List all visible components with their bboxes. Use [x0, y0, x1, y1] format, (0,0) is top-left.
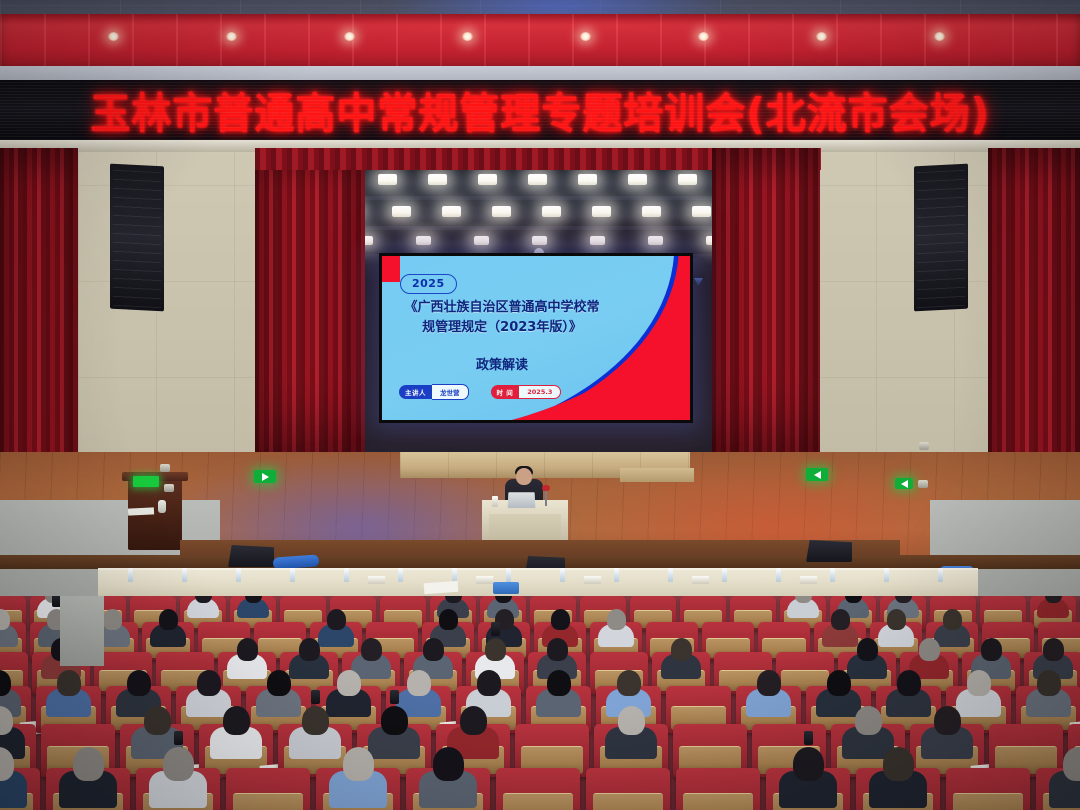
attendee-head — [981, 638, 1002, 661]
presenter-head — [516, 468, 532, 485]
auditorium-seat — [226, 768, 310, 810]
downlight-icon — [226, 32, 237, 41]
slide-footer: 主讲人 龙世营 时 间 2025.3 — [399, 384, 561, 400]
auditorium-seat — [676, 768, 760, 810]
stage-lamp-icon — [648, 236, 663, 245]
attendee-head — [919, 638, 940, 661]
slide-title-line-2: 规管理规定（2023年版）》 — [392, 318, 612, 338]
curtain-right — [712, 148, 820, 473]
attendee-head — [163, 747, 194, 780]
attendee-head — [477, 670, 501, 696]
downlight-icon — [108, 32, 119, 41]
water-bottle-icon — [236, 568, 241, 582]
name-card — [800, 576, 817, 584]
stage-lamp-icon — [416, 236, 431, 245]
attendee-head — [943, 609, 962, 630]
desk-microphone-icon — [545, 489, 547, 506]
banner-title: 玉林市普通高中常规管理专题培训会(北流市会场) — [90, 80, 990, 140]
floor-monitor-left — [228, 545, 274, 567]
seat-back-pad — [683, 793, 754, 810]
stage-lamp-icon — [628, 174, 647, 185]
stage-lamp-icon — [642, 206, 661, 217]
attendee-head — [857, 638, 878, 661]
name-card — [476, 576, 493, 584]
wall-lamp-icon-right — [919, 442, 929, 450]
attendee-head — [223, 706, 250, 735]
slide-time-value: 2025.3 — [519, 385, 561, 399]
slide-presenter-name: 龙世营 — [432, 384, 469, 400]
attendee-head — [423, 638, 444, 661]
attendee-head — [934, 706, 961, 735]
attendee-head — [302, 706, 329, 735]
water-bottle-icon — [668, 568, 673, 582]
slide-presenter-pill: 主讲人 龙世营 — [399, 384, 469, 400]
attendee-head — [299, 638, 320, 661]
attendee-head — [793, 747, 824, 780]
downlight-icon — [934, 32, 945, 41]
water-bottle-icon — [722, 568, 727, 582]
attendee-head — [57, 670, 81, 696]
stage-lamp-icon — [492, 206, 511, 217]
front-table-blue-box — [493, 582, 519, 594]
attendee-head — [671, 638, 692, 661]
slide-time-label: 时 间 — [491, 385, 520, 399]
exit-sign-icon-right-wall — [806, 468, 828, 481]
attendee-head — [897, 670, 921, 696]
podium-vase — [158, 500, 166, 513]
attendee-phone-icon — [491, 622, 500, 636]
attendee-head — [127, 670, 151, 696]
attendee-head — [1037, 670, 1061, 696]
par-light-fixture-icon — [692, 258, 705, 280]
attendee-head — [618, 706, 645, 735]
curtain-left — [255, 148, 365, 473]
stage-lamp-icon — [578, 174, 597, 185]
line-array-speaker-left — [110, 164, 164, 312]
attendee-head — [617, 670, 641, 696]
water-bottle-icon — [128, 568, 133, 582]
downlight-icon — [816, 32, 827, 41]
attendee-head — [407, 670, 431, 696]
attendee-head — [855, 706, 882, 735]
stage-lamp-icon — [692, 206, 711, 217]
attendee-head — [267, 670, 291, 696]
slide-year-badge: 2025 — [400, 274, 457, 294]
stage-lamp-icon — [478, 174, 497, 185]
seat-back-pad — [233, 793, 304, 810]
slide-time-pill: 时 间 2025.3 — [491, 385, 562, 399]
auditorium-seat — [586, 768, 670, 810]
stage-lamp-icon — [590, 236, 605, 245]
attendee-head — [381, 706, 408, 735]
attendee-head — [343, 747, 374, 780]
stage-lamp-icon — [678, 174, 697, 185]
attendee-head — [103, 609, 122, 630]
water-bottle-icon — [398, 568, 403, 582]
slide-subtitle: 政策解读 — [392, 354, 612, 373]
attendee-head — [887, 609, 906, 630]
aisle-floor — [60, 596, 104, 666]
attendee-head — [547, 638, 568, 661]
laptop-icon — [508, 492, 536, 508]
led-banner: 玉林市普通高中常规管理专题培训会(北流市会场) — [0, 80, 1080, 140]
attendee-head — [1063, 747, 1080, 780]
attendee-head — [551, 609, 570, 630]
attendee-head — [159, 609, 178, 630]
floor-monitor-right — [806, 540, 852, 562]
attendee-head — [144, 706, 171, 735]
downlight-icon — [344, 32, 355, 41]
stage-lamp-icon — [542, 206, 561, 217]
slide-top-red-corner — [382, 256, 400, 282]
water-bottle-icon — [506, 568, 511, 582]
front-table-paper — [424, 581, 459, 594]
stage-lamp-icon — [392, 206, 411, 217]
led-display-screen: 2025 《广西壮族自治区普通高中学校常 规管理规定（2023年版）》 政策解读… — [379, 253, 693, 423]
attendee-phone-icon — [390, 690, 399, 704]
stage-riser-step — [620, 468, 694, 482]
attendee-phone-icon — [804, 731, 813, 745]
seat-back-pad — [593, 793, 664, 810]
wall-lamp-icon-right-2 — [918, 480, 928, 488]
attendee-head — [547, 670, 571, 696]
attendee-head — [0, 609, 10, 630]
attendee-head — [883, 747, 914, 780]
water-bottle-icon — [884, 568, 889, 582]
name-card — [584, 576, 601, 584]
water-bottle-icon — [776, 568, 781, 582]
auditorium-seat — [946, 768, 1030, 810]
stage-lamp-icon — [378, 174, 397, 185]
seat-back-pad — [503, 793, 574, 810]
podium-paper — [128, 507, 154, 515]
attendee-head — [967, 670, 991, 696]
audience-seating-area — [0, 596, 1080, 810]
seat-back-pad — [953, 793, 1024, 810]
attendee-head — [197, 670, 221, 696]
slide-presenter-label: 主讲人 — [399, 385, 432, 399]
stage-lamp-icon — [428, 174, 447, 185]
attendee-head — [831, 609, 850, 630]
water-bottle-icon — [830, 568, 835, 582]
desk-cup — [492, 496, 498, 507]
exit-sign-icon-far-right — [895, 478, 913, 489]
stage-lamp-icon — [474, 236, 489, 245]
water-bottle-icon — [182, 568, 187, 582]
attendee-head — [361, 638, 382, 661]
water-bottle-icon — [560, 568, 565, 582]
water-bottle-icon — [290, 568, 295, 582]
attendee-head — [327, 609, 346, 630]
stage-lamp-icon — [532, 236, 547, 245]
name-card — [368, 576, 385, 584]
presentation-slide: 2025 《广西壮族自治区普通高中学校常 规管理规定（2023年版）》 政策解读… — [382, 256, 690, 420]
attendee-head — [337, 670, 361, 696]
attendee-head — [460, 706, 487, 735]
stage-lamp-icon — [592, 206, 611, 217]
name-card — [692, 576, 709, 584]
podium-green-display — [133, 476, 159, 487]
auditorium-photo: 玉林市普通高中常规管理专题培训会(北流市会场) 2025 《广西壮族自治区普通高… — [0, 0, 1080, 810]
attendee-head — [73, 747, 104, 780]
ceiling-red-band — [0, 14, 1080, 68]
attendee-head — [439, 609, 458, 630]
wall-lamp-icon-left-2 — [164, 484, 174, 492]
stage-lamp-icon — [442, 206, 461, 217]
downlight-icon — [462, 32, 473, 41]
water-bottle-icon — [614, 568, 619, 582]
auditorium-seat — [496, 768, 580, 810]
water-bottle-icon — [938, 568, 943, 582]
attendee-head — [827, 670, 851, 696]
downlight-icon — [698, 32, 709, 41]
water-bottle-icon — [344, 568, 349, 582]
attendee-phone-icon — [311, 690, 320, 704]
attendee-head — [757, 670, 781, 696]
attendee-head — [433, 747, 464, 780]
wall-lamp-icon-left — [160, 464, 170, 472]
slide-title: 《广西壮族自治区普通高中学校常 规管理规定（2023年版）》 — [392, 298, 612, 338]
slide-title-line-1: 《广西壮族自治区普通高中学校常 — [392, 298, 612, 318]
stage-lamp-icon — [528, 174, 547, 185]
exit-sign-icon-left-wall — [254, 470, 276, 483]
attendee-head — [237, 638, 258, 661]
attendee-phone-icon — [174, 731, 183, 745]
attendee-head — [485, 638, 506, 661]
downlight-icon — [580, 32, 591, 41]
line-array-speaker-right — [914, 164, 968, 312]
attendee-head — [1043, 638, 1064, 661]
attendee-head — [607, 609, 626, 630]
